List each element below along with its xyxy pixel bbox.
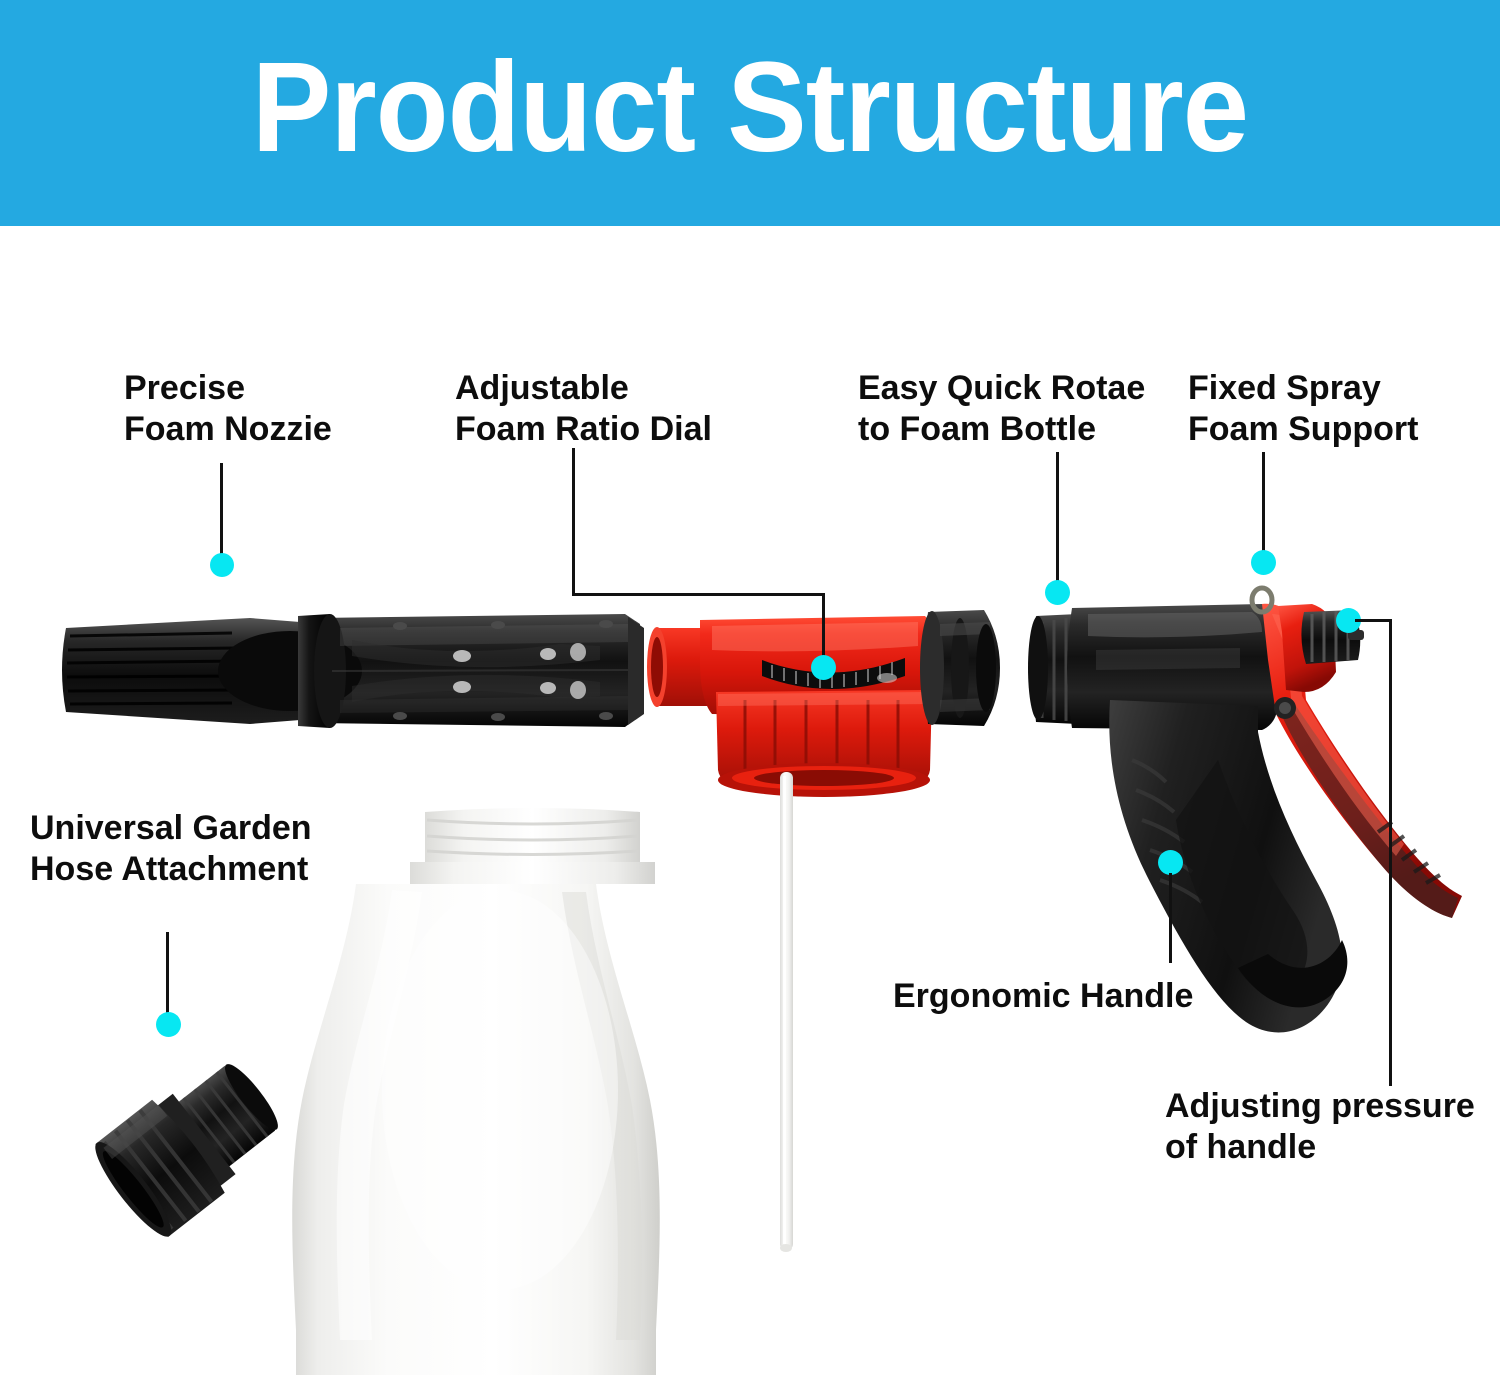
part-pickup-straw [780, 772, 793, 1252]
leader-line-adjusting-pressure-h [1355, 619, 1392, 622]
part-foam-bottle [292, 802, 660, 1375]
leader-line-fixed-spray-foam-support [1262, 452, 1265, 554]
leader-dot-precise-foam-nozzle [210, 553, 234, 577]
callout-label-adjustable-foam-ratio-dial: Adjustable Foam Ratio Dial [455, 368, 712, 451]
leader-line-precise-foam-nozzle [220, 463, 223, 565]
part-hose-adapter [86, 1044, 296, 1244]
part-spray-gun [1028, 588, 1462, 1032]
callout-label-universal-garden-hose-attachment: Universal Garden Hose Attachment [30, 808, 312, 891]
leader-line-ergonomic-handle [1169, 873, 1172, 963]
callout-label-fixed-spray-foam-support: Fixed Spray Foam Support [1188, 368, 1418, 451]
mixer-hose-connector [920, 610, 1000, 726]
callout-label-easy-quick-rotae-to-foam-bottle: Easy Quick Rotae to Foam Bottle [858, 368, 1145, 451]
leader-dot-adjustable-foam-ratio-dial [811, 655, 836, 680]
leader-line-adjustable-foam-ratio-dial-v1 [572, 448, 575, 596]
leader-dot-universal-garden-hose-attachment [156, 1012, 181, 1037]
leader-line-adjustable-foam-ratio-dial-h [572, 593, 825, 596]
leader-line-easy-quick-rotae [1056, 452, 1059, 584]
callout-label-precise-foam-nozzle: Precise Foam Nozzie [124, 368, 332, 451]
leader-dot-easy-quick-rotae [1045, 580, 1070, 605]
leader-dot-ergonomic-handle [1158, 850, 1183, 875]
part-foam-nozzle-wand [62, 614, 644, 728]
leader-line-universal-garden-hose-attachment [166, 932, 169, 1020]
leader-dot-fixed-spray-foam-support [1251, 550, 1276, 575]
leader-line-adjusting-pressure-v [1389, 619, 1392, 1086]
callout-label-ergonomic-handle: Ergonomic Handle [893, 976, 1193, 1017]
product-structure-diagram: Product Structure [0, 0, 1500, 1375]
callout-label-adjusting-pressure-of-handle: Adjusting pressure of handle [1165, 1086, 1475, 1169]
